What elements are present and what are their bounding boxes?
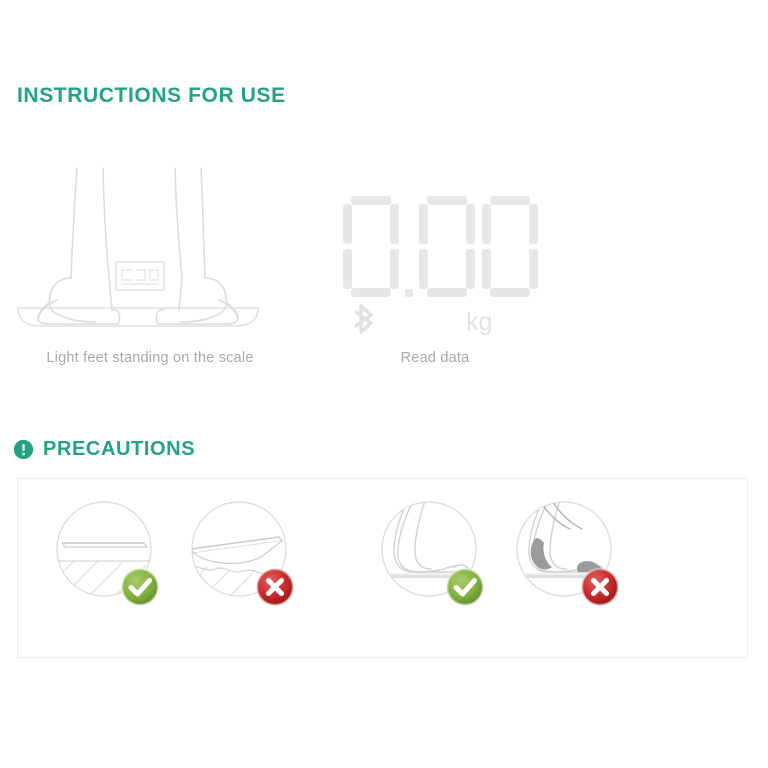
exclamation-circle-icon bbox=[13, 439, 34, 460]
lcd-display-illustration: kg bbox=[285, 150, 585, 335]
precautions-heading: PRECAUTIONS bbox=[43, 438, 195, 461]
precaution-item-bare-foot bbox=[373, 493, 493, 613]
scale-on-carpet-uneven-surface-illustration bbox=[183, 493, 303, 613]
instructions-heading: INSTRUCTIONS FOR USE bbox=[17, 84, 286, 108]
lcd-unit-label: kg bbox=[466, 308, 492, 335]
bare-foot-on-scale-illustration bbox=[373, 493, 493, 613]
scale-on-hard-flat-floor-illustration bbox=[48, 493, 168, 613]
precautions-panel bbox=[17, 478, 748, 658]
instruction-step-1-caption: Light feet standing on the scale bbox=[0, 350, 300, 366]
feet-on-scale-illustration bbox=[0, 150, 300, 335]
cross-badge bbox=[257, 569, 293, 605]
instruction-steps: Light feet standing on the scale bbox=[0, 150, 768, 390]
cross-badge bbox=[582, 569, 618, 605]
instruction-step-2-caption: Read data bbox=[285, 350, 585, 366]
precaution-item-sock-foot bbox=[508, 493, 628, 613]
precaution-items bbox=[18, 479, 747, 657]
sock-foot-on-scale-illustration bbox=[508, 493, 628, 613]
precaution-item-carpet bbox=[183, 493, 303, 613]
instruction-step-2: kg Read data bbox=[285, 150, 585, 390]
bluetooth-icon bbox=[356, 306, 371, 332]
precautions-heading-group: PRECAUTIONS bbox=[13, 438, 195, 461]
check-badge bbox=[122, 569, 158, 605]
instruction-step-1: Light feet standing on the scale bbox=[0, 150, 300, 390]
check-badge bbox=[447, 569, 483, 605]
precaution-item-hard-floor bbox=[48, 493, 168, 613]
